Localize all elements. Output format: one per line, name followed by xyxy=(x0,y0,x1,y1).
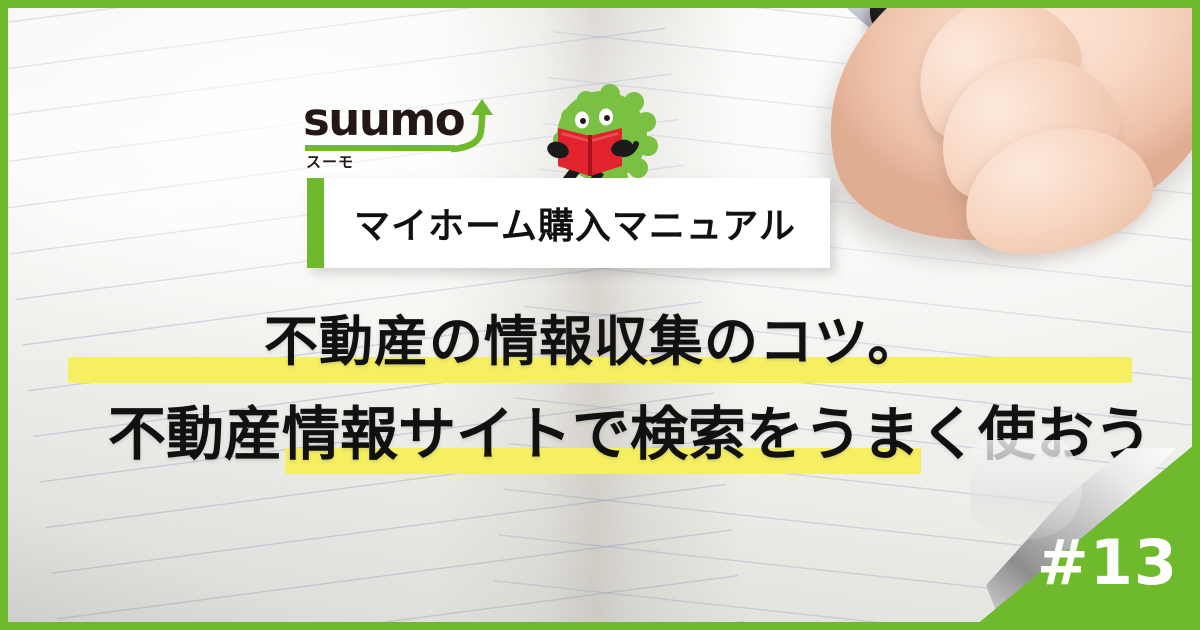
issue-number-badge: #13 xyxy=(1037,532,1178,594)
poster-frame: suumo スーモ xyxy=(0,0,1200,630)
suumo-logo: suumo スーモ xyxy=(303,96,503,172)
banner-green-accent-bar xyxy=(307,178,324,268)
banner-title-text: マイホーム購入マニュアル xyxy=(354,197,796,249)
hand-holding-pen-icon xyxy=(772,8,1192,238)
headline-row-1: 不動産の情報収集のコツ。 xyxy=(0,300,1200,392)
suumo-logo-subtext: スーモ xyxy=(306,151,354,172)
banner-body: マイホーム購入マニュアル xyxy=(324,178,830,268)
issue-corner: #13 xyxy=(970,440,1200,630)
manual-title-banner: マイホーム購入マニュアル xyxy=(307,178,830,268)
headline-line-1: 不動産の情報収集のコツ。 xyxy=(264,300,922,384)
up-arrow-icon xyxy=(449,97,495,153)
